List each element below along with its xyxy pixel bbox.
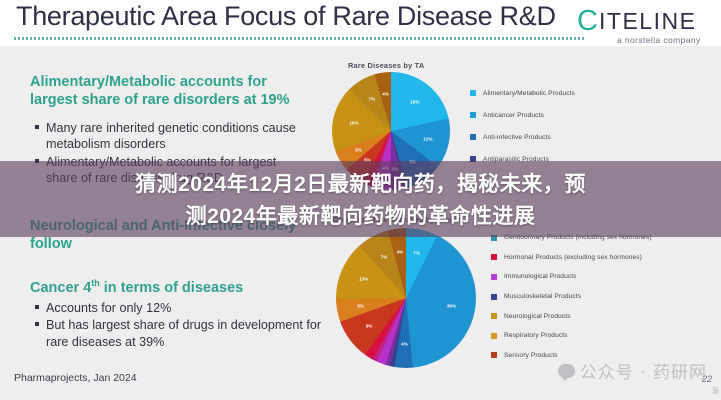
- legend-label: Hormonal Products (excluding sex hormone…: [504, 254, 642, 261]
- legend-item: Musculoskeletal Products: [491, 287, 652, 307]
- legend-swatch-icon: [470, 112, 476, 118]
- legend-label: Musculoskeletal Products: [504, 293, 581, 300]
- legend-swatch-icon: [491, 294, 497, 300]
- logo-wordmark: ITELINE: [599, 8, 696, 35]
- citeline-logo: C ITELINE a norstella company: [575, 4, 715, 46]
- slide-canvas: Therapeutic Area Focus of Rare Disease R…: [0, 0, 721, 400]
- legend-swatch-icon: [491, 333, 497, 339]
- list-item: Many rare inherited genetic conditions c…: [33, 120, 308, 153]
- overlay-line-2: 测2024年最新靶向药物的革命性进展: [186, 200, 536, 230]
- legend-label: Anti-infective Products: [483, 134, 551, 141]
- chart-title-rare-diseases: Rare Diseases by TA: [348, 61, 424, 70]
- pie-slice-label: 5%: [357, 304, 364, 309]
- slide-header: Therapeutic Area Focus of Rare Disease R…: [0, 0, 721, 46]
- legend-swatch-icon: [470, 134, 476, 140]
- legend-swatch-icon: [491, 352, 497, 358]
- legend-label: Anticancer Products: [483, 112, 544, 119]
- list-item: But has largest share of drugs in develo…: [33, 317, 323, 350]
- dotted-divider: [14, 37, 586, 40]
- legend-item: Hormonal Products (excluding sex hormone…: [491, 248, 652, 268]
- list-item: Accounts for only 12%: [33, 300, 323, 316]
- legend-swatch-icon: [491, 274, 497, 280]
- legend-label: Respiratory Products: [504, 332, 568, 339]
- legend-swatch-icon: [491, 313, 497, 319]
- overlay-line-1: 猜测2024年12月2日最新靶向药，揭秘未来，预: [135, 168, 586, 198]
- legend-label: Immunological Products: [504, 273, 577, 280]
- cancer-rank: Cancer 4: [30, 280, 91, 296]
- pie-chart-drugs-for-rare-diseases: 7%39%4%9%5%13%7%4%: [336, 228, 476, 368]
- pie-slice-label: 4%: [397, 250, 404, 255]
- legend-swatch-icon: [491, 254, 497, 260]
- legend-item: Alimentary/Metabolic Products: [470, 82, 575, 104]
- pie-slice-label: 16%: [349, 120, 358, 125]
- cancer-rank-rest: in terms of diseases: [100, 280, 243, 296]
- logo-c-mark: C: [577, 7, 598, 36]
- chat-bubble-icon: [558, 364, 575, 378]
- legend-item: Anticancer Products: [470, 104, 575, 126]
- pie-slice-label: 5%: [355, 148, 362, 153]
- legend-label: Alimentary/Metabolic Products: [483, 90, 575, 97]
- chart-legend-top: Alimentary/Metabolic ProductsAnticancer …: [470, 82, 575, 170]
- legend-item: Neurological Products: [491, 306, 652, 326]
- watermark: 公众号 · 药研网: [558, 358, 707, 383]
- pie-slice-label: 39%: [447, 304, 456, 309]
- legend-item: Immunological Products: [491, 267, 652, 287]
- insight-heading-alimentary: Alimentary/Metabolic accounts for larges…: [30, 74, 300, 109]
- pie-slice-label: 9%: [366, 323, 373, 328]
- watermark-text: 公众号 · 药研网: [580, 358, 707, 383]
- legend-item: Respiratory Products: [491, 326, 652, 346]
- overlay-headline: 猜测2024年12月2日最新靶向药，揭秘未来，预 测2024年最新靶向药物的革命…: [0, 161, 721, 237]
- pie-slice-label: 7%: [413, 251, 420, 256]
- legend-item: Anti-infective Products: [470, 126, 575, 148]
- legend-label: Sensory Products: [504, 352, 558, 359]
- logo-tagline: a norstella company: [617, 35, 701, 45]
- pie-slice-label: 13%: [359, 277, 368, 282]
- insight-heading-cancer: Cancer 4th in terms of diseases: [30, 278, 320, 298]
- chart-legend-bottom: Genitourinary Products (including sex ho…: [491, 228, 652, 365]
- pie-slice-label: 12%: [423, 137, 432, 142]
- legend-swatch-icon: [470, 90, 476, 96]
- page-title: Therapeutic Area Focus of Rare Disease R…: [16, 1, 556, 32]
- pie-slice-label: 19%: [410, 99, 419, 104]
- insight-bullets-cancer: Accounts for only 12% But has largest sh…: [33, 300, 323, 351]
- pie-slice-label: 7%: [368, 96, 375, 101]
- pie-slice-label: 4%: [382, 91, 389, 96]
- legend-label: Neurological Products: [504, 313, 571, 320]
- pie-slice-label: 7%: [381, 255, 388, 260]
- watermark-tail: 源: [712, 386, 719, 396]
- pie-slice-label: 4%: [401, 342, 408, 347]
- cancer-rank-suffix: th: [91, 278, 99, 288]
- source-footnote: Pharmaprojects, Jan 2024: [14, 372, 137, 384]
